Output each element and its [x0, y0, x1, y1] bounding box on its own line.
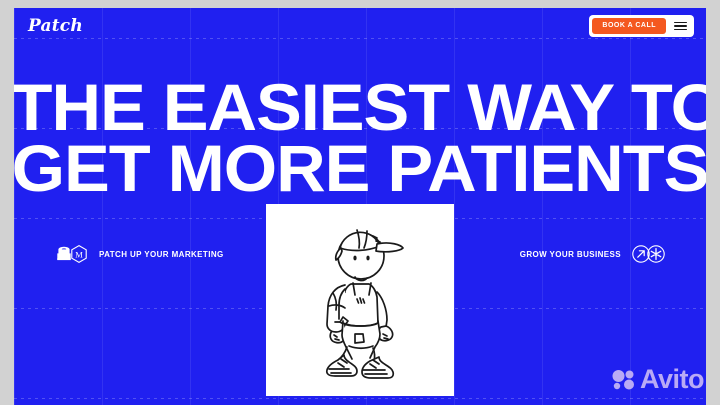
avito-dots-icon: [611, 369, 635, 391]
illustration-card: [266, 204, 454, 396]
page-gutter-left: [0, 0, 14, 405]
avito-wordmark: Avito: [640, 366, 704, 393]
top-navigation-bar: Patch BOOK A CALL: [14, 8, 706, 44]
feature-label-marketing: PATCH UP YOUR MARKETING: [99, 250, 224, 259]
hexagon-m-icon: M: [69, 244, 89, 264]
hamburger-bar: [674, 29, 687, 31]
walking-character-with-backpack-illustration: [285, 214, 435, 386]
book-a-call-button[interactable]: BOOK A CALL: [592, 18, 666, 34]
page-gutter-right: [706, 0, 720, 405]
hero-section: Patch BOOK A CALL THE EASIEST WAY TO GET…: [14, 8, 706, 405]
sparkle-circle-icon: [646, 244, 666, 264]
screenshot-root: Patch BOOK A CALL THE EASIEST WAY TO GET…: [0, 0, 720, 405]
hamburger-bar: [674, 25, 687, 27]
page-gutter-top: [0, 0, 720, 8]
feature-icon-group: [631, 244, 666, 264]
hamburger-bar: [674, 22, 687, 24]
avito-watermark: Avito: [611, 366, 704, 393]
feature-item-growth[interactable]: GROW YOUR BUSINESS: [520, 244, 666, 264]
feature-item-marketing[interactable]: M PATCH UP YOUR MARKETING: [54, 244, 224, 264]
patch-logo[interactable]: Patch: [28, 18, 83, 35]
feature-label-growth: GROW YOUR BUSINESS: [520, 250, 621, 259]
hero-headline: THE EASIEST WAY TO GET MORE PATIENTS: [14, 77, 706, 198]
grid-rule: [14, 398, 706, 399]
nav-action-cluster: BOOK A CALL: [589, 15, 694, 37]
feature-icon-group: M: [54, 244, 89, 264]
headline-line-1: THE EASIEST WAY TO: [14, 77, 706, 138]
svg-text:M: M: [75, 249, 83, 259]
hamburger-menu-icon[interactable]: [669, 18, 691, 34]
headline-line-2: GET MORE PATIENTS: [14, 138, 706, 199]
